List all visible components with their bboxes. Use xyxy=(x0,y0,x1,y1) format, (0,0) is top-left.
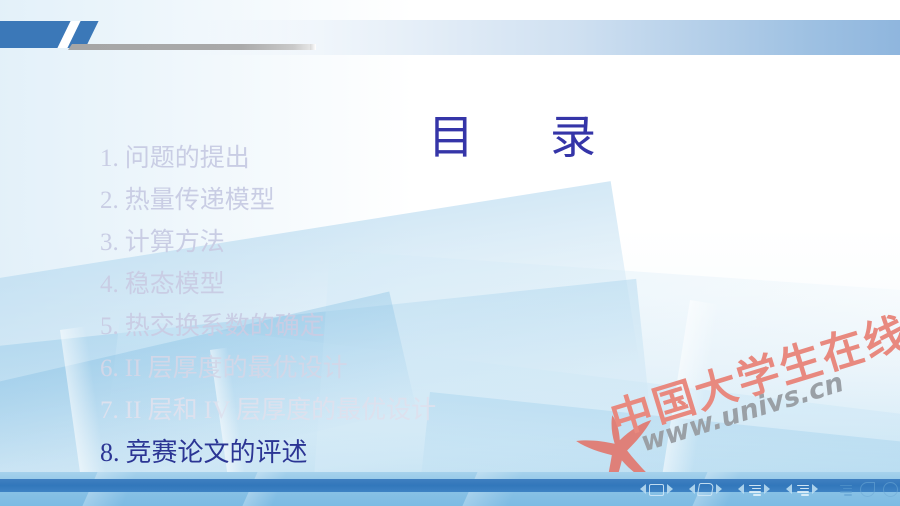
toc-item-1-label: 问题的提出 xyxy=(125,145,250,172)
nav-group-slide xyxy=(640,483,673,496)
search-icon[interactable] xyxy=(883,482,898,497)
next-arrow-icon[interactable] xyxy=(716,484,722,494)
toc-item-3-label: 计算方法 xyxy=(125,229,225,256)
slide-footer xyxy=(0,472,900,506)
shape-icon[interactable] xyxy=(698,483,713,496)
toc-item-7[interactable]: 7.II 层和 IV 层厚度的最优设计 xyxy=(100,390,860,432)
toc-item-5-number: 5. xyxy=(100,313,119,340)
prev-arrow-icon[interactable] xyxy=(640,484,646,494)
prev-arrow-icon[interactable] xyxy=(689,484,695,494)
slide-icon[interactable] xyxy=(649,483,664,496)
table-of-contents-list: 1.问题的提出 2.热量传递模型 3.计算方法 4.稳态模型 5.热交换系数的确… xyxy=(100,138,860,474)
toc-item-2[interactable]: 2.热量传递模型 xyxy=(100,180,860,222)
toc-item-4[interactable]: 4.稳态模型 xyxy=(100,264,860,306)
toc-item-3[interactable]: 3.计算方法 xyxy=(100,222,860,264)
outline-icon[interactable] xyxy=(795,483,809,495)
toc-item-2-number: 2. xyxy=(100,187,119,214)
back-icon[interactable] xyxy=(860,482,875,497)
nav-group-outline-a xyxy=(738,483,770,495)
header-rule-tail xyxy=(310,44,316,50)
next-arrow-icon[interactable] xyxy=(812,484,818,494)
toc-item-7-label: II 层和 IV 层厚度的最优设计 xyxy=(125,397,436,424)
toc-item-4-number: 4. xyxy=(100,271,119,298)
prev-arrow-icon[interactable] xyxy=(738,484,744,494)
slide-navigation-controls xyxy=(640,475,900,503)
toc-item-2-label: 热量传递模型 xyxy=(125,187,275,214)
toc-item-7-number: 7. xyxy=(100,397,119,424)
toc-item-6-label: II 层厚度的最优设计 xyxy=(125,355,348,382)
outline-icon[interactable] xyxy=(838,483,852,495)
nav-group-outline-b xyxy=(786,483,818,495)
toc-item-8[interactable]: 8.竞赛论文的评述 xyxy=(100,432,860,474)
toc-item-3-number: 3. xyxy=(100,229,119,256)
toc-item-8-number: 8. xyxy=(100,438,120,467)
toc-item-6[interactable]: 6.II 层厚度的最优设计 xyxy=(100,348,860,390)
header-rule xyxy=(68,44,313,50)
toc-item-5-label: 热交换系数的确定 xyxy=(125,313,325,340)
toc-item-1[interactable]: 1.问题的提出 xyxy=(100,138,860,180)
next-arrow-icon[interactable] xyxy=(764,484,770,494)
outline-icon[interactable] xyxy=(747,483,761,495)
toc-item-6-number: 6. xyxy=(100,355,119,382)
presentation-slide: 目 录 1.问题的提出 2.热量传递模型 3.计算方法 4.稳态模型 5.热交换… xyxy=(0,0,900,506)
nav-group-shape xyxy=(689,483,722,496)
toc-item-5[interactable]: 5.热交换系数的确定 xyxy=(100,306,860,348)
toc-item-8-label: 竞赛论文的评述 xyxy=(126,438,308,467)
toc-item-1-number: 1. xyxy=(100,145,119,172)
toc-item-4-label: 稳态模型 xyxy=(125,271,225,298)
next-arrow-icon[interactable] xyxy=(667,484,673,494)
prev-arrow-icon[interactable] xyxy=(786,484,792,494)
